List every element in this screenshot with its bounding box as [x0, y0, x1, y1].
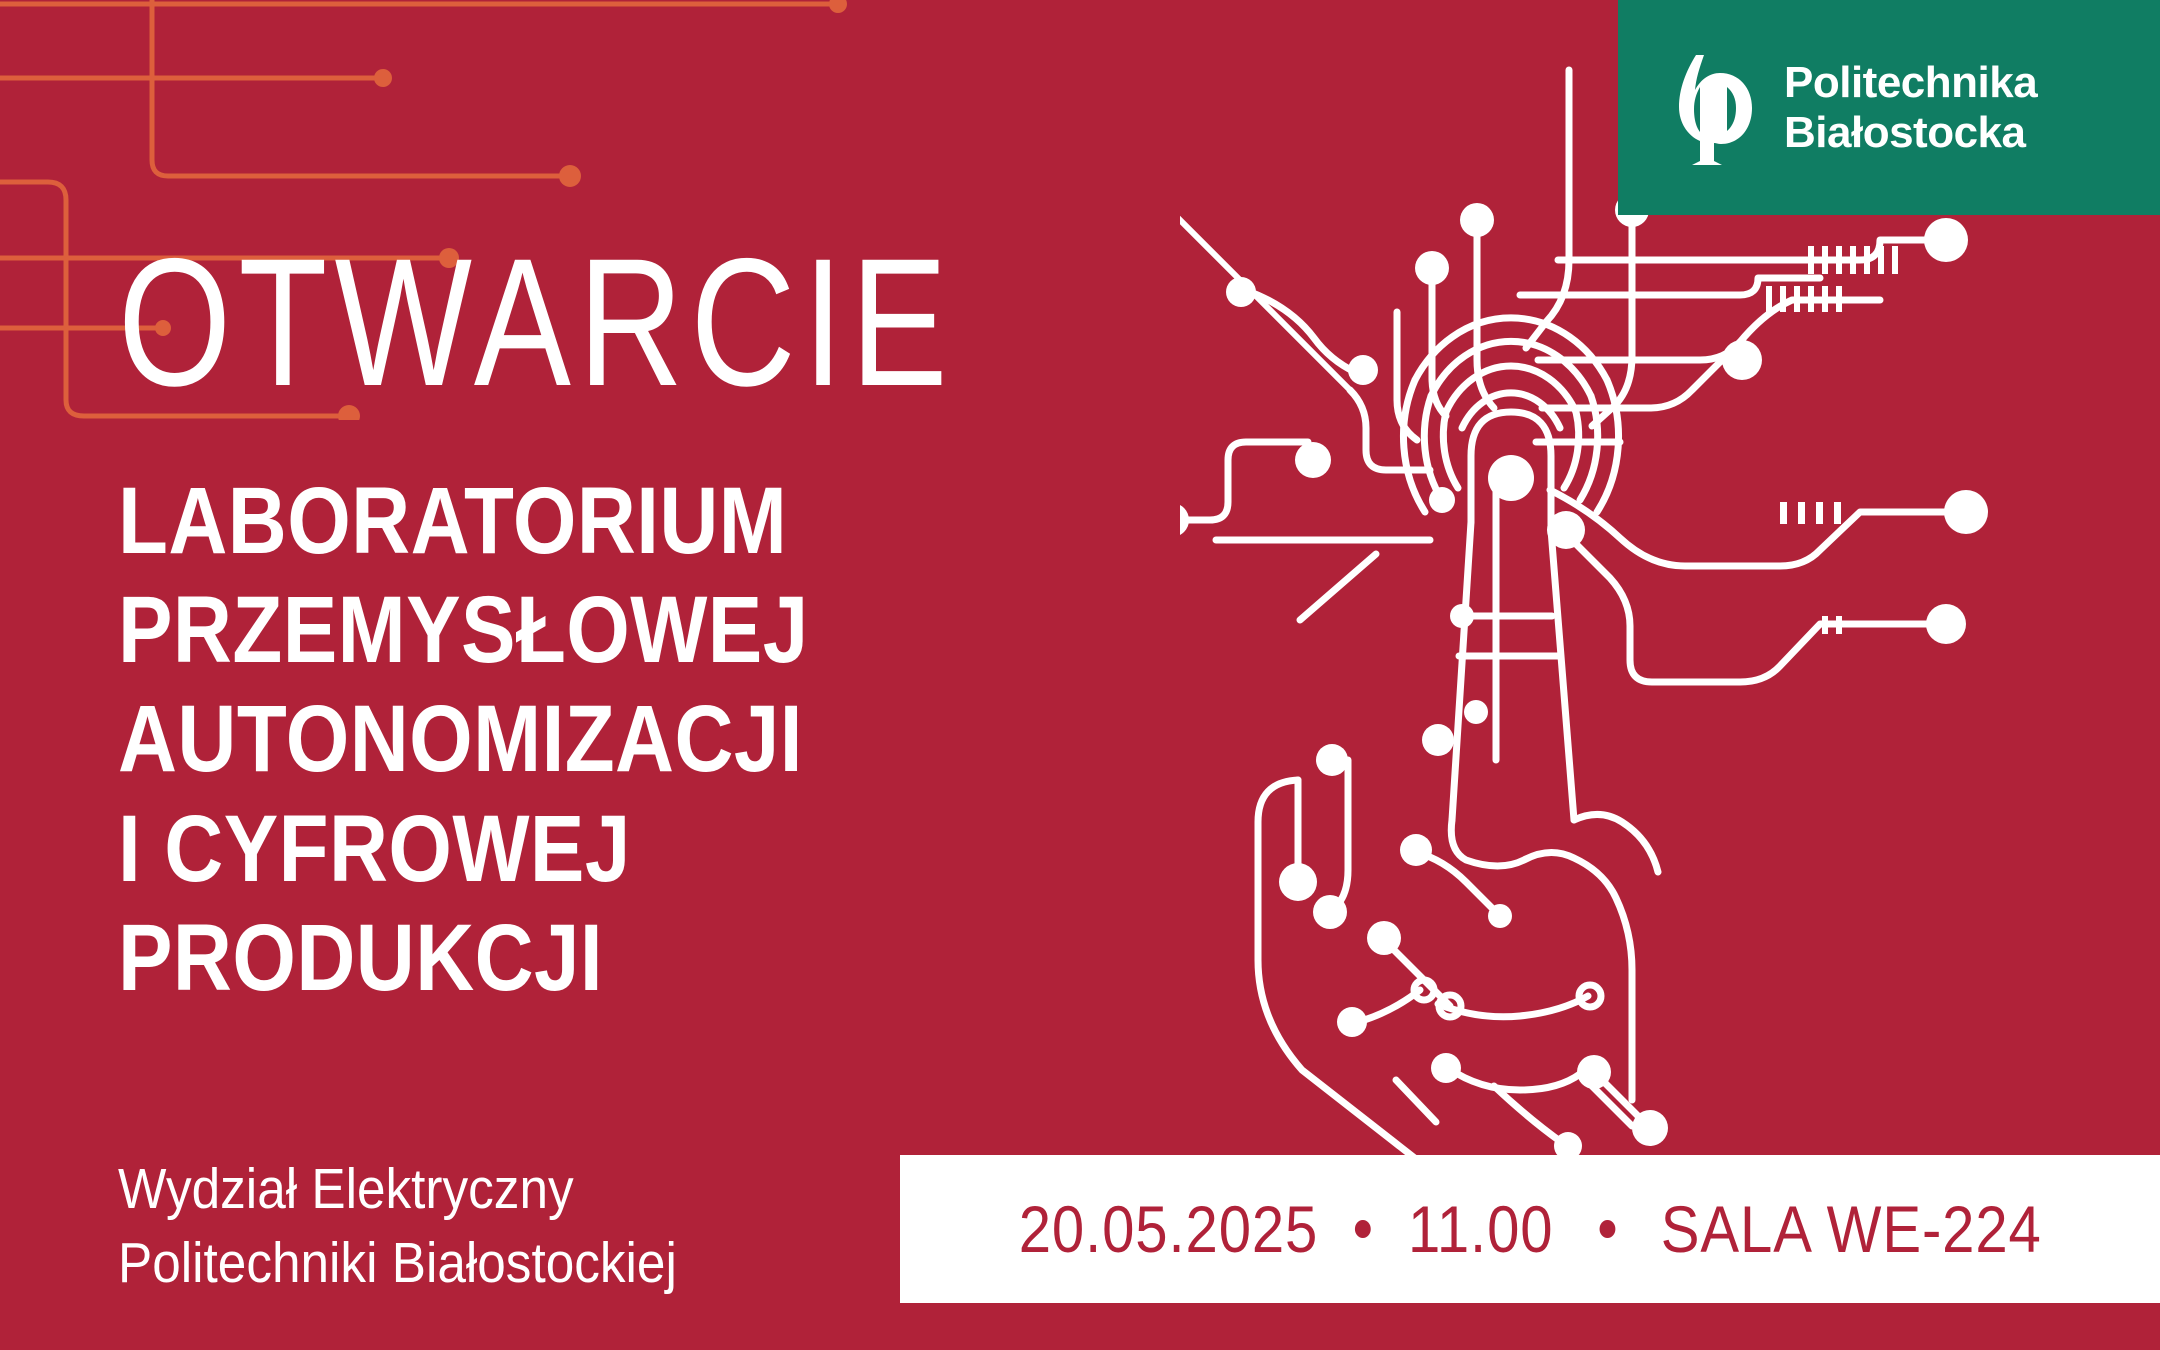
- separator-dot-icon: [1355, 1220, 1371, 1238]
- event-time: 11.00: [1408, 1191, 1553, 1267]
- event-date: 20.05.2025: [1018, 1191, 1317, 1267]
- university-logo-panel: Politechnika Białostocka: [1618, 0, 2160, 215]
- university-logo-text: Politechnika Białostocka: [1784, 58, 2037, 157]
- logo-line-2: Białostocka: [1784, 108, 2037, 157]
- title-line-4: I CYFROWEJ: [118, 795, 978, 904]
- title-line-2: PRZEMYSŁOWEJ: [118, 576, 978, 685]
- event-room: SALA WE-224: [1661, 1191, 2042, 1267]
- politechnika-bialostocka-monogram-icon: [1666, 49, 1758, 167]
- faculty-line-1: Wydział Elektryczny: [118, 1152, 677, 1226]
- title-line-5: PRODUKCJI: [118, 904, 978, 1013]
- title-line-1: LABORATORIUM: [118, 467, 978, 576]
- faculty-credit: Wydział Elektryczny Politechniki Białost…: [118, 1152, 677, 1300]
- separator-dot-icon-2: [1599, 1220, 1615, 1238]
- title-line-3: AUTONOMIZACJI: [118, 685, 978, 794]
- poster-canvas: Politechnika Białostocka OTWARCIE LABORA…: [0, 0, 2160, 1350]
- headline-block: OTWARCIE LABORATORIUM PRZEMYSŁOWEJ AUTON…: [118, 236, 1118, 1013]
- faculty-line-2: Politechniki Białostockiej: [118, 1226, 677, 1300]
- page-title-kicker: OTWARCIE: [118, 236, 918, 409]
- logo-line-1: Politechnika: [1784, 58, 2037, 107]
- page-title-main: LABORATORIUM PRZEMYSŁOWEJ AUTONOMIZACJI …: [118, 467, 978, 1013]
- hand-touching-circuit-illustration: [1180, 60, 2040, 1170]
- event-info-content: 20.05.2025 11.00 SALA WE-224: [1018, 1191, 2041, 1267]
- event-info-bar: 20.05.2025 11.00 SALA WE-224: [900, 1155, 2160, 1303]
